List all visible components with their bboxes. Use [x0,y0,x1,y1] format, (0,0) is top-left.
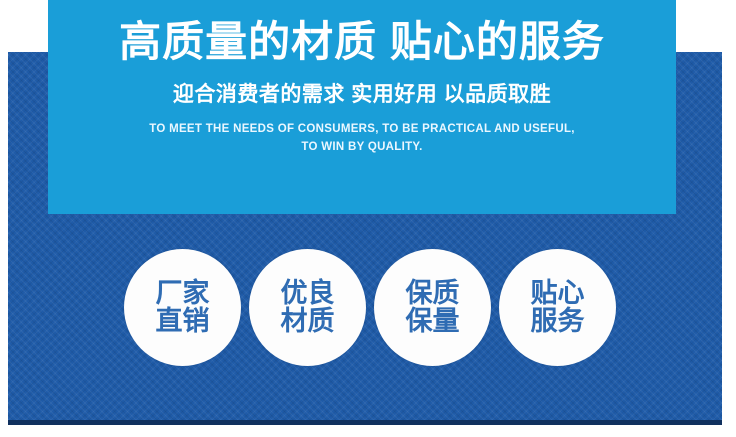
feature-circle-line-1: 保质 [406,279,460,307]
headline-subtitle-en-line-1: TO MEET THE NEEDS OF CONSUMERS, TO BE PR… [149,121,575,139]
feature-circle-line-2: 保量 [406,307,460,335]
feature-circle-list: 厂家 直销 优良 材质 保质 保量 贴心 服务 [124,247,616,367]
headline-card: 高质量的材质 贴心的服务 迎合消费者的需求 实用好用 以品质取胜 TO MEET… [48,0,676,214]
feature-circle-factory-direct[interactable]: 厂家 直销 [124,249,241,366]
feature-circle-line-1: 厂家 [156,279,210,307]
headline-title-cn: 高质量的材质 贴心的服务 [119,18,605,66]
promo-banner: 高质量的材质 贴心的服务 迎合消费者的需求 实用好用 以品质取胜 TO MEET… [0,0,736,437]
headline-subtitle-cn: 迎合消费者的需求 实用好用 以品质取胜 [173,82,551,107]
feature-circle-guaranteed-quality[interactable]: 保质 保量 [374,249,491,366]
feature-circle-attentive-service[interactable]: 贴心 服务 [499,249,616,366]
headline-content: 高质量的材质 贴心的服务 迎合消费者的需求 实用好用 以品质取胜 TO MEET… [48,0,676,214]
feature-circle-quality-material[interactable]: 优良 材质 [249,249,366,366]
headline-subtitle-en: TO MEET THE NEEDS OF CONSUMERS, TO BE PR… [149,121,575,157]
feature-circle-line-2: 材质 [281,307,335,335]
feature-circle-line-1: 优良 [281,279,335,307]
feature-circle-line-2: 直销 [156,307,210,335]
headline-subtitle-en-line-2: TO WIN BY QUALITY. [149,139,575,157]
feature-circle-line-2: 服务 [531,307,585,335]
feature-circle-line-1: 贴心 [531,279,585,307]
